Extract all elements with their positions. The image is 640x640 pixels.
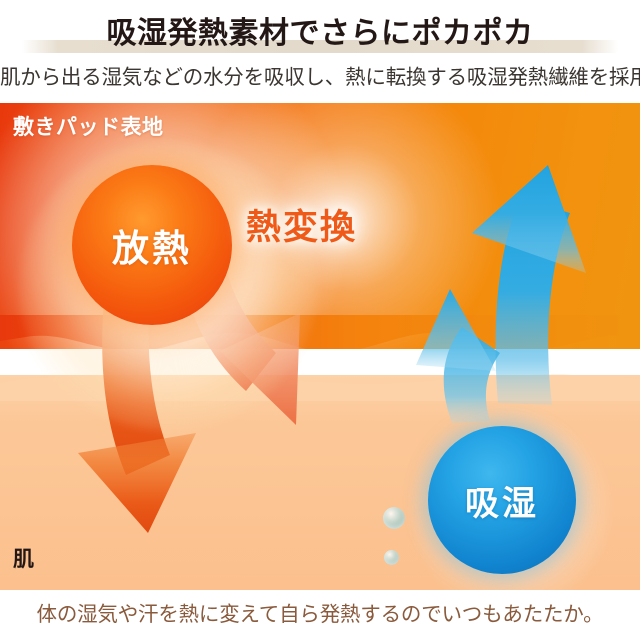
skin-caption: 肌	[13, 543, 35, 573]
moisture-absorption-label: 吸湿	[428, 426, 576, 574]
footer: 体の湿気や汗を熱に変えて自ら発熱するのでいつもあたたか。	[0, 590, 640, 640]
heat-conversion-label: 熱変換	[246, 199, 357, 250]
heat-release-label: 放熱	[72, 165, 232, 325]
pad-surface-caption: 敷きパッド表地	[13, 111, 164, 141]
infographic-page: 吸湿発熱素材でさらにポカポカ 肌から出る湿気などの水分を吸収し、熱に転換する吸湿…	[0, 0, 640, 640]
illustration-panel: 放熱 熱変換 敷きパッド表地 吸湿 肌	[0, 103, 640, 590]
header: 吸湿発熱素材でさらにポカポカ 肌から出る湿気などの水分を吸収し、熱に転換する吸湿…	[0, 0, 640, 103]
footer-caption: 体の湿気や汗を熱に変えて自ら発熱するのでいつもあたたか。	[0, 597, 640, 627]
page-subtitle: 肌から出る湿気などの水分を吸収し、熱に転換する吸湿発熱繊維を採用。	[0, 60, 640, 90]
page-title: 吸湿発熱素材でさらにポカポカ	[0, 8, 640, 52]
moisture-bubble	[384, 550, 399, 565]
